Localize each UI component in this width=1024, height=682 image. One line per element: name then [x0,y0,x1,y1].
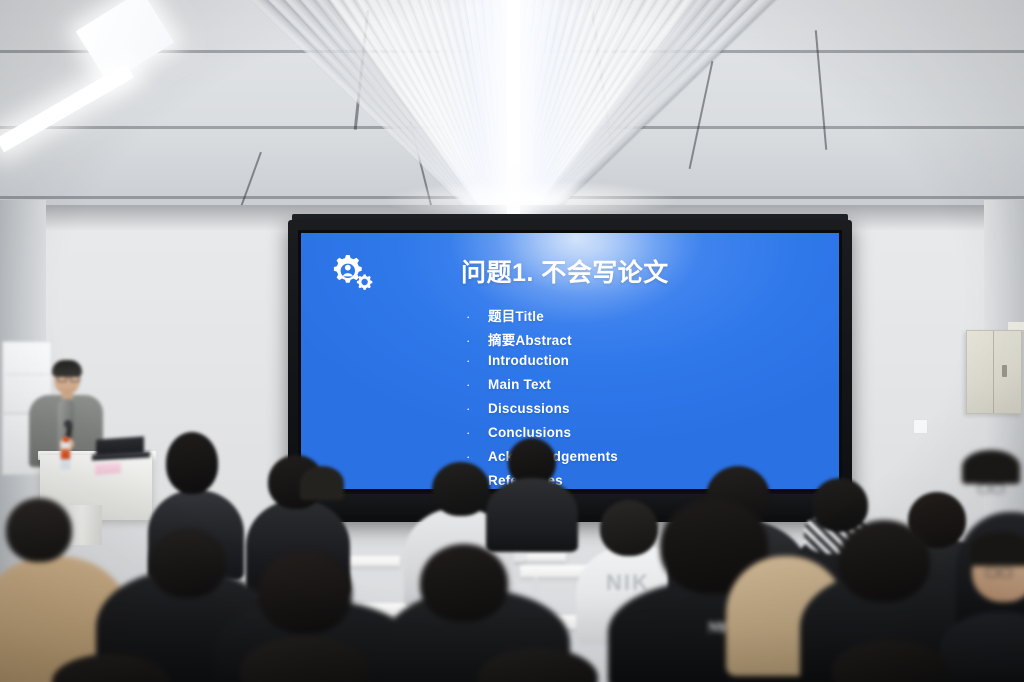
list-item [962,450,1020,484]
water-bottle-label [61,449,70,459]
list-item [432,462,490,516]
list-item [6,498,72,562]
bullet-dot-icon: · [466,377,488,392]
slide-bullet-item: ·摘要Abstract [466,329,618,353]
slide-bullet-item: ·Main Text [466,377,618,401]
list-item [838,520,930,602]
list-item [420,544,508,622]
bullet-dot-icon: · [466,353,488,368]
glasses-icon [986,568,1020,575]
slide-bullet-label: 摘要Abstract [488,329,572,349]
slide-bullet-item: ·题目Title [466,305,618,329]
bullet-dot-icon: · [466,333,488,348]
glasses-icon [978,484,1012,491]
panel-cabinet-top-trim [1008,322,1024,330]
presentation-display[interactable]: 问题1. 不会写论文 ·题目Title·摘要Abstract·Introduct… [288,220,852,522]
display-panel: 问题1. 不会写论文 ·题目Title·摘要Abstract·Introduct… [298,230,842,492]
list-item [150,528,226,598]
slide-title: 问题1. 不会写论文 [461,253,669,289]
black-cap [300,466,344,500]
list-item [812,478,868,532]
wall-switch-plate[interactable] [913,419,928,434]
water-bottle-cap [63,437,69,442]
list-item [970,532,1024,566]
ceiling [0,0,1024,214]
list-item [486,478,578,552]
bullet-dot-icon: · [466,449,488,464]
ny-logo: NY [708,620,726,637]
gear-icon [328,251,376,291]
bullet-dot-icon: · [466,425,488,440]
slide-bullet-item: ·Discussions [466,401,618,425]
ceiling-glow [380,180,680,214]
whiteboard-seam [5,374,49,375]
slide-bullet-label: Discussions [488,401,570,416]
lecture-hall-photo: 问题1. 不会写论文 ·题目Title·摘要Abstract·Introduct… [0,0,1024,682]
slide-bullet-label: Introduction [488,353,569,368]
presenter-glasses-icon [57,374,78,380]
panel-door-seam [993,331,994,413]
panel-latch [1002,365,1007,377]
slide: 问题1. 不会写论文 ·题目Title·摘要Abstract·Introduct… [301,233,839,489]
slide-bullet-label: Main Text [488,377,551,392]
bullet-dot-icon: · [466,401,488,416]
list-item [600,500,658,556]
slide-bullet-label: 题目Title [488,305,544,325]
pink-name-card [95,462,121,475]
electrical-panel-cabinet [966,330,1022,414]
list-item [166,432,218,494]
list-item [258,550,352,634]
microphone-head [64,420,72,428]
slide-bullet-item: ·Introduction [466,353,618,377]
bullet-dot-icon: · [466,309,488,324]
